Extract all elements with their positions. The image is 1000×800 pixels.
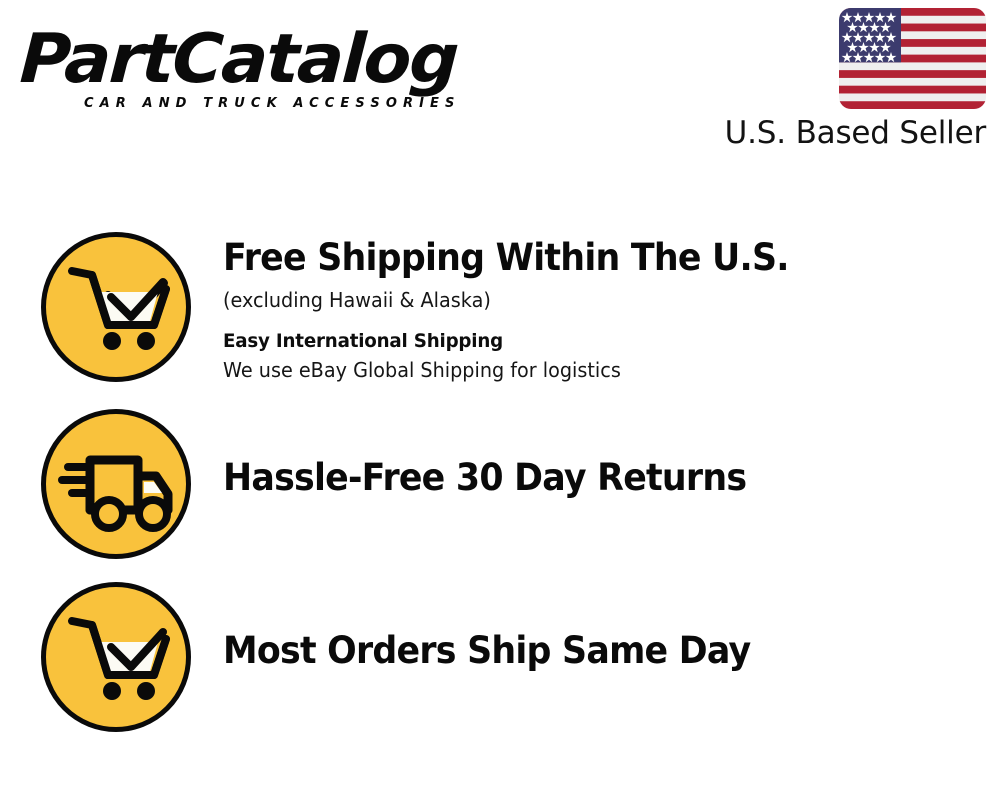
delivery-truck-icon [41,409,191,559]
feature-sub-title: Easy International Shipping [223,329,969,354]
page-header: PartCatalog CAR AND TRUCK ACCESSORIES [0,0,1000,175]
feature-text-block: Hassle-Free 30 Day Returns [223,409,1000,500]
us-flag-icon [839,8,986,109]
feature-text-block: Most Orders Ship Same Day [223,582,1000,673]
feature-text-block: Free Shipping Within The U.S. (excluding… [223,232,1000,383]
cart-check-icon [41,232,191,382]
list-item: Most Orders Ship Same Day [0,582,1000,732]
feature-sub-note: We use eBay Global Shipping for logistic… [223,357,969,383]
us-based-seller-badge: U.S. Based Seller [706,8,986,151]
cart-check-icon [41,582,191,732]
brand-tagline: CAR AND TRUCK ACCESSORIES [84,96,461,111]
brand-logo[interactable]: PartCatalog CAR AND TRUCK ACCESSORIES [22,26,492,118]
feature-title: Free Shipping Within The U.S. [223,236,953,280]
us-based-seller-label: U.S. Based Seller [706,115,986,151]
feature-title: Hassle-Free 30 Day Returns [223,456,953,500]
feature-note: (excluding Hawaii & Alaska) [223,287,969,313]
brand-wordmark: PartCatalog [18,26,501,94]
list-item: Free Shipping Within The U.S. (excluding… [0,232,1000,383]
feature-title: Most Orders Ship Same Day [223,629,953,673]
list-item: Hassle-Free 30 Day Returns [0,409,1000,559]
